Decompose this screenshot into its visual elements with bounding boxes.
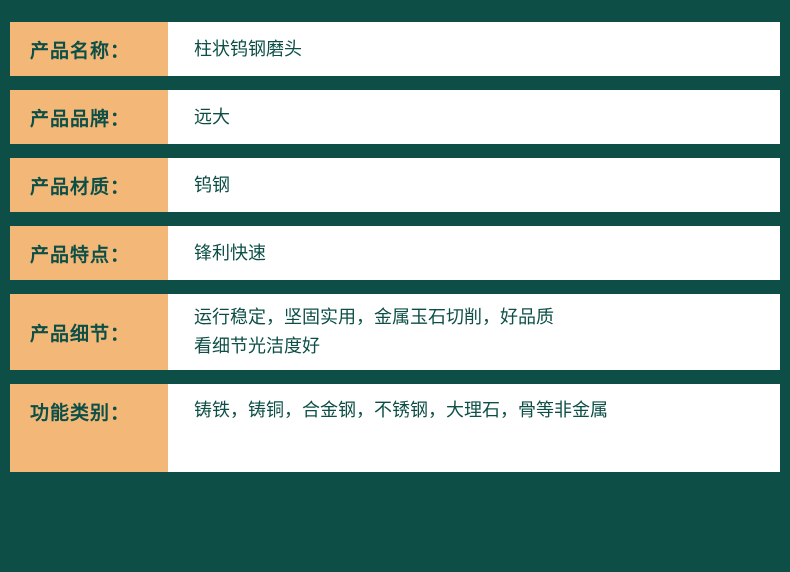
- spec-value-function-category: 铸铁，铸铜，合金钢，不锈钢，大理石，骨等非金属: [168, 384, 780, 472]
- spec-value-product-feature: 锋利快速: [168, 226, 780, 280]
- spec-value-text: 铸铁，铸铜，合金钢，不锈钢，大理石，骨等非金属: [194, 396, 608, 425]
- spec-label-product-name: 产品名称：: [10, 22, 168, 76]
- spec-label-function-category: 功能类别：: [10, 384, 168, 472]
- spec-value-product-brand: 远大: [168, 90, 780, 144]
- spec-value-text: 钨钢: [194, 171, 230, 200]
- spec-label-product-feature: 产品特点：: [10, 226, 168, 280]
- spec-row: 产品材质： 钨钢: [10, 158, 780, 212]
- spec-value-text: 远大: [194, 103, 230, 132]
- spec-row: 产品特点： 锋利快速: [10, 226, 780, 280]
- spec-value-product-material: 钨钢: [168, 158, 780, 212]
- spec-value-text: 柱状钨钢磨头: [194, 35, 302, 64]
- bottom-bar: [0, 558, 790, 572]
- spec-value-text: 运行稳定，坚固实用，金属玉石切削，好品质 看细节光洁度好: [194, 303, 554, 361]
- spec-label-product-brand: 产品品牌：: [10, 90, 168, 144]
- product-spec-sheet: 产品名称： 柱状钨钢磨头 产品品牌： 远大 产品材质： 钨钢 产品特点： 锋利快…: [0, 0, 790, 572]
- spec-value-text: 锋利快速: [194, 239, 266, 268]
- spec-row: 产品细节： 运行稳定，坚固实用，金属玉石切削，好品质 看细节光洁度好: [10, 294, 780, 370]
- spec-label-product-detail: 产品细节：: [10, 294, 168, 370]
- spec-row: 产品品牌： 远大: [10, 90, 780, 144]
- spec-value-product-detail: 运行稳定，坚固实用，金属玉石切削，好品质 看细节光洁度好: [168, 294, 780, 370]
- spec-row: 产品名称： 柱状钨钢磨头: [10, 22, 780, 76]
- spec-row: 功能类别： 铸铁，铸铜，合金钢，不锈钢，大理石，骨等非金属: [10, 384, 780, 472]
- spec-label-product-material: 产品材质：: [10, 158, 168, 212]
- spec-value-product-name: 柱状钨钢磨头: [168, 22, 780, 76]
